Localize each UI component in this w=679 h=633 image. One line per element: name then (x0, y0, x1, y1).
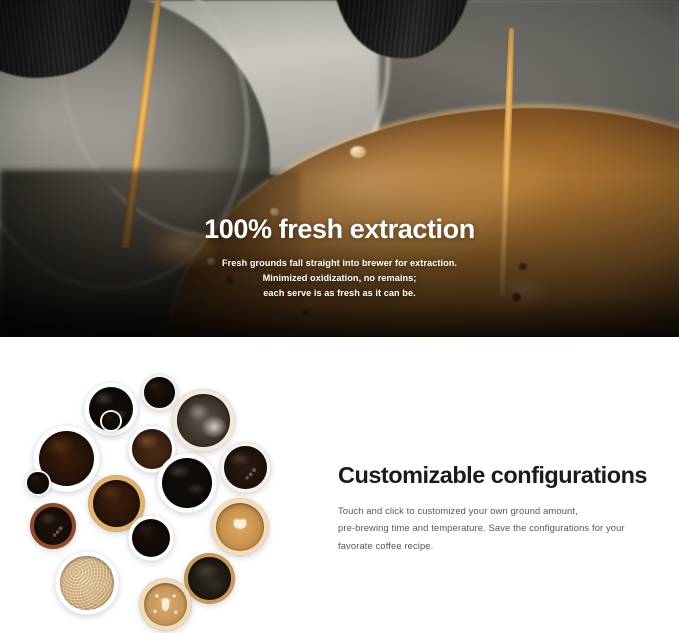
cup-dark-gold-rim-bottom (184, 553, 235, 604)
cup-liquid (132, 519, 170, 557)
cup-latte-art-heart-right (211, 498, 269, 556)
hero-subtitle: Fresh grounds fall straight into brewer … (0, 256, 679, 302)
cup-liquid (93, 480, 140, 527)
feature-body-line-2: pre-brewing time and temperature. Save t… (338, 519, 668, 536)
cup-liquid (162, 458, 212, 508)
cup-latte-art-tulip-bottom (139, 578, 192, 631)
cup-liquid (224, 446, 266, 488)
cup-bubbles-right (220, 442, 271, 493)
cup-black-small-center (128, 515, 174, 561)
cup-cappuccino-foam-top-right (172, 389, 235, 452)
cup-liquid (34, 507, 72, 545)
cup-liquid (102, 412, 119, 429)
cup-liquid (216, 503, 264, 551)
customizable-configurations-section: Customizable configurations Touch and cl… (0, 337, 679, 633)
cup-small-dark-upper-edge (100, 410, 122, 432)
feature-body: Touch and click to customized your own g… (338, 502, 668, 554)
cup-small-dark-left-edge (25, 470, 51, 496)
feature-body-line-3: favorate coffee recipe. (338, 537, 668, 554)
hero-copy-block: 100% fresh extraction Fresh grounds fall… (0, 214, 679, 302)
cup-black-oily-center (157, 453, 217, 513)
cup-small-dark-top (141, 374, 178, 411)
hero-subtitle-line-1: Fresh grounds fall straight into brewer … (0, 256, 679, 271)
fresh-extraction-hero: 100% fresh extraction Fresh grounds fall… (0, 0, 679, 337)
cup-crema-foam-bottom-left (55, 551, 119, 615)
coffee-cup-cluster (0, 337, 330, 633)
feature-title: Customizable configurations (338, 463, 668, 489)
hero-subtitle-line-3: each serve is as fresh as it can be. (0, 286, 679, 301)
cup-liquid (27, 472, 48, 493)
feature-copy-block: Customizable configurations Touch and cl… (338, 463, 668, 554)
hero-title: 100% fresh extraction (0, 214, 679, 245)
cup-liquid (177, 394, 229, 446)
cup-liquid (144, 377, 175, 408)
cup-liquid (188, 557, 230, 599)
cup-terracotta-rim-left (30, 503, 76, 549)
hero-subtitle-line-2: Minimized oxidization, no remains; (0, 271, 679, 286)
cup-liquid (60, 556, 113, 609)
feature-body-line-1: Touch and click to customized your own g… (338, 502, 668, 519)
